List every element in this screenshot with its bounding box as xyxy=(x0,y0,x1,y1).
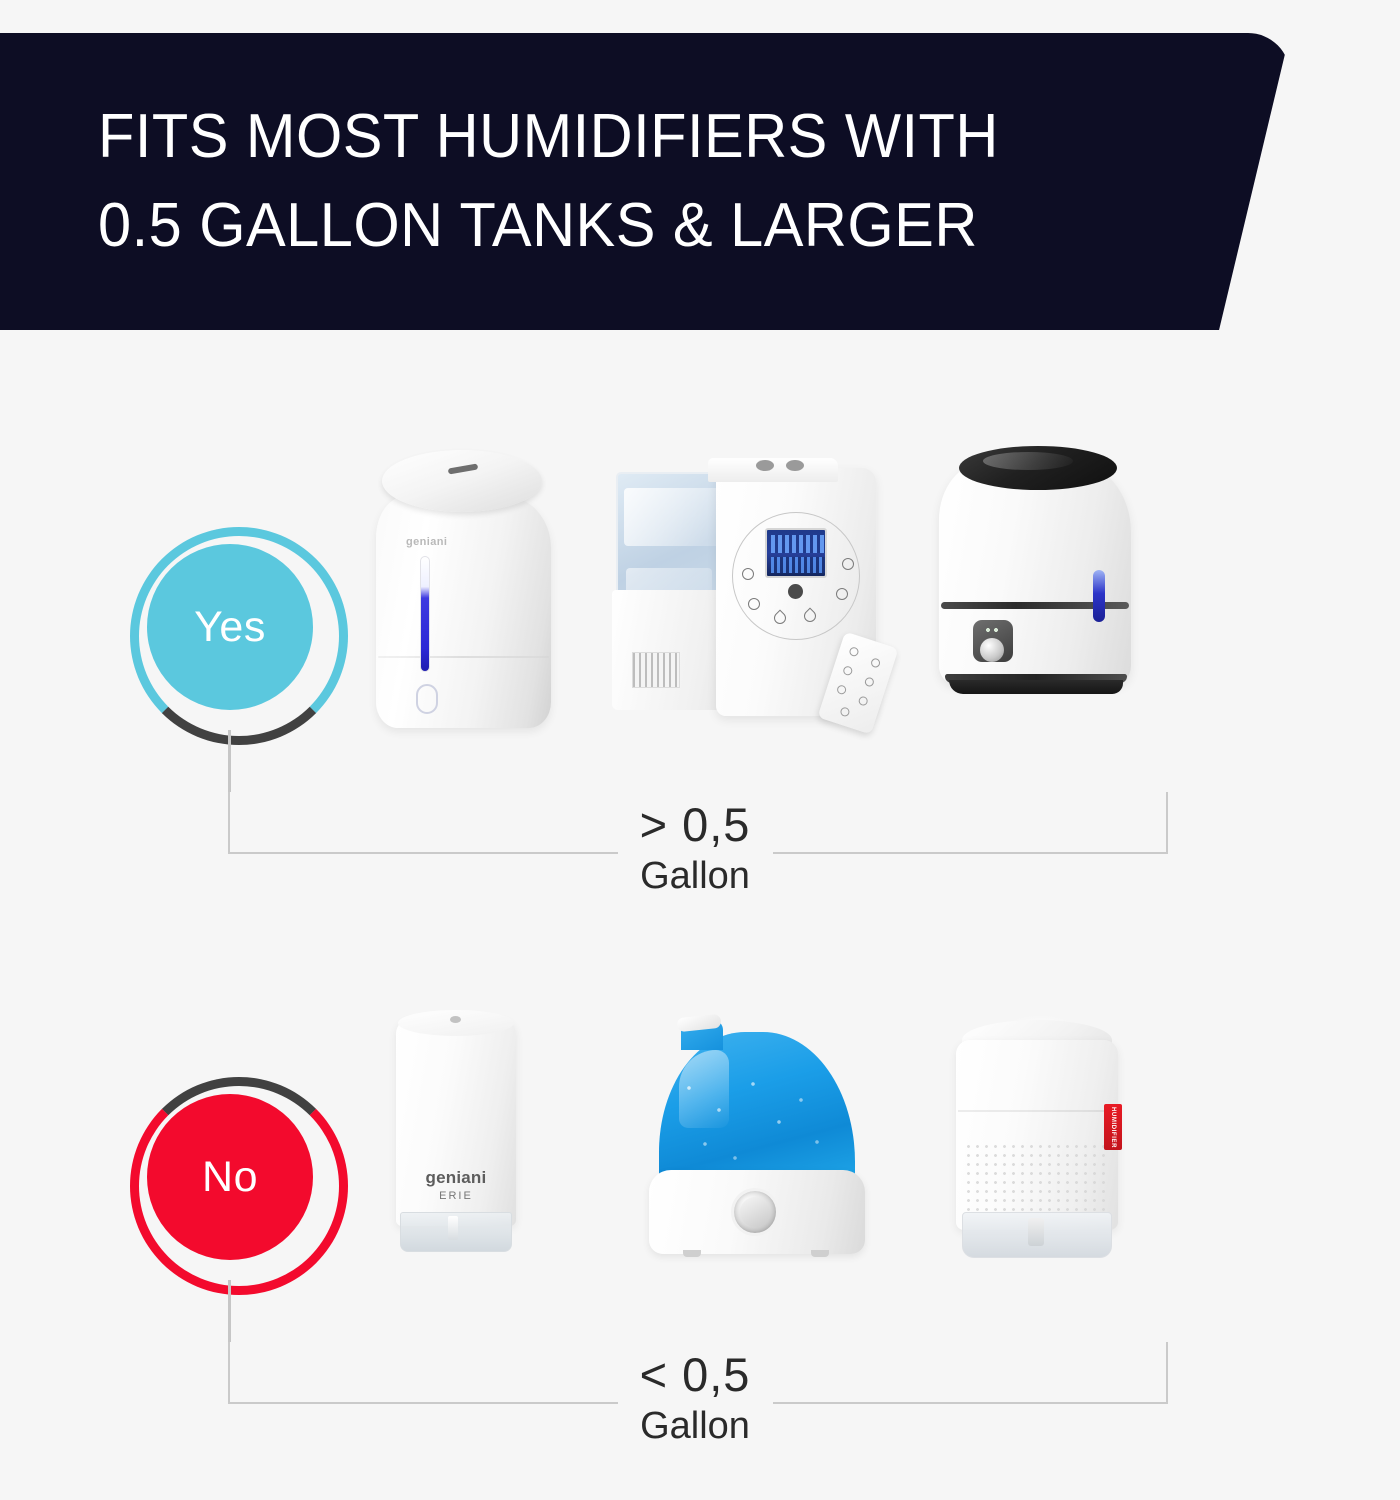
header-banner-text: FITS MOST HUMIDIFIERS WITH 0.5 GALLON TA… xyxy=(0,33,1290,330)
p6-perforated-band xyxy=(964,1142,1110,1214)
p6-tag-text: HUMIDIFIER xyxy=(1110,1107,1116,1148)
yes-capacity-label: > 0,5 Gallon xyxy=(565,800,825,900)
product-image-cylinder-humidifier: HUMIDIFIER xyxy=(940,1012,1140,1267)
no-bracket-right-stem xyxy=(1166,1342,1168,1404)
p3-control-knob xyxy=(980,638,1004,662)
no-bracket-base-left xyxy=(228,1402,618,1404)
p2-mist-nozzle-right xyxy=(786,460,804,471)
p2-mode-icon xyxy=(836,588,848,600)
p1-water-level-indicator xyxy=(420,556,430,672)
p4-base-insert xyxy=(448,1216,458,1240)
p2-tank-highlight-upper xyxy=(624,488,720,546)
p1-seam xyxy=(378,656,549,658)
banner-title-line-1: FITS MOST HUMIDIFIERS WITH xyxy=(98,93,1242,181)
infographic-page: FITS MOST HUMIDIFIERS WITH 0.5 GALLON TA… xyxy=(0,0,1400,1500)
no-badge-connector-line xyxy=(228,1280,231,1342)
p2-timer-icon xyxy=(842,558,854,570)
p2-remote-button-1 xyxy=(848,646,859,657)
yes-bracket-base-right xyxy=(773,852,1168,854)
product-image-digital-ultrasonic-humidifier xyxy=(608,440,898,740)
yes-capacity-unit: Gallon xyxy=(565,853,825,901)
p2-lcd-segment-row-2 xyxy=(771,557,825,573)
p2-lcd-segment-row-1 xyxy=(771,535,825,553)
p6-seam-ring xyxy=(958,1110,1116,1112)
p3-base xyxy=(949,680,1123,694)
p2-remote-button-3 xyxy=(842,665,853,676)
p4-top-cap xyxy=(398,1010,514,1036)
p1-power-button xyxy=(416,684,438,714)
p2-remote-button-4 xyxy=(864,676,875,687)
p1-body xyxy=(376,496,551,728)
p5-tank-highlight xyxy=(679,1050,729,1128)
p2-vent-grille xyxy=(632,652,680,688)
p2-top-cap xyxy=(708,458,838,482)
no-capacity-value: < 0,5 xyxy=(565,1350,825,1401)
yes-bracket-right-stem xyxy=(1166,792,1168,854)
p2-power-icon xyxy=(742,568,754,580)
no-capacity-unit: Gallon xyxy=(565,1403,825,1451)
p3-top-highlight xyxy=(983,452,1073,470)
no-badge-label: No xyxy=(147,1094,313,1260)
p1-lid xyxy=(382,450,542,512)
no-bracket-left-stem xyxy=(228,1342,230,1404)
p3-indicator-lights xyxy=(985,626,999,635)
yes-badge-connector-line xyxy=(228,730,231,792)
product-image-geniani-erie-humidifier: geniani ERIE xyxy=(382,1000,532,1260)
yes-bracket-left-stem xyxy=(228,792,230,854)
p6-base-insert xyxy=(1028,1218,1044,1246)
p2-remote-button-2 xyxy=(870,657,881,668)
p5-knob-inner xyxy=(740,1197,770,1227)
banner-title-line-2: 0.5 GALLON TANKS & LARGER xyxy=(98,182,1242,270)
p2-remote-button-7 xyxy=(839,706,850,717)
p2-lcd-display xyxy=(765,528,827,578)
product-image-geniani-tall-humidifier: geniani xyxy=(358,438,563,733)
p2-remote-button-5 xyxy=(836,684,847,695)
no-bracket-base-right xyxy=(773,1402,1168,1404)
p6-red-label-tag: HUMIDIFIER xyxy=(1104,1104,1122,1150)
p2-humidity-icon xyxy=(748,598,760,610)
yes-bracket-base-left xyxy=(228,852,618,854)
p2-sensor xyxy=(788,584,803,599)
p2-remote-button-6 xyxy=(858,695,869,706)
no-badge: No xyxy=(130,1077,330,1277)
no-capacity-label: < 0,5 Gallon xyxy=(565,1350,825,1450)
product-image-dark-top-humidifier xyxy=(925,430,1150,730)
p5-foot-right xyxy=(811,1250,829,1257)
yes-badge: Yes xyxy=(130,527,330,727)
p3-water-level-window xyxy=(1093,570,1105,622)
p1-brand-logo: geniani xyxy=(406,536,447,548)
yes-capacity-value: > 0,5 xyxy=(565,800,825,851)
product-image-blue-tank-humidifier xyxy=(645,1010,875,1265)
p4-mist-outlet xyxy=(450,1016,461,1023)
p4-brand-logo: geniani xyxy=(382,1168,530,1188)
p2-mist-nozzle-left xyxy=(756,460,774,471)
p5-foot-left xyxy=(683,1250,701,1257)
p4-model-name: ERIE xyxy=(382,1190,530,1202)
yes-badge-label: Yes xyxy=(147,544,313,710)
